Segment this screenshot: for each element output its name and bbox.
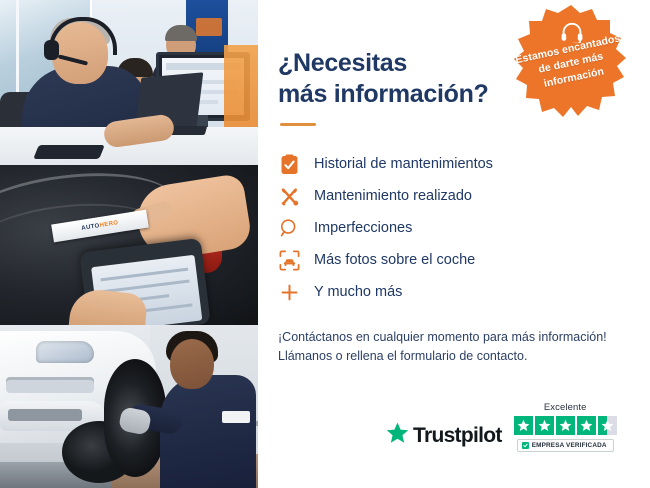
feature-label: Más fotos sobre el coche	[314, 252, 475, 268]
content-panel: ¿Necesitas más información? Historial de…	[258, 0, 650, 488]
tools-icon	[278, 185, 300, 207]
agent-headset-earcup	[44, 40, 59, 60]
desk-tablet	[33, 145, 105, 159]
feature-item-imperfections: Imperfecciones	[278, 212, 626, 244]
feature-label: Y mucho más	[314, 284, 402, 300]
car-scan-icon	[278, 249, 300, 271]
trustpilot-rating-label: Excelente	[544, 402, 587, 413]
clipboard-check-icon	[278, 153, 300, 175]
star-tile-2	[535, 416, 554, 435]
mechanic-wheel-photo	[0, 325, 258, 488]
title-underline	[280, 123, 316, 126]
feature-list: Historial de mantenimientos M	[278, 148, 626, 308]
feature-label: Imperfecciones	[314, 220, 412, 236]
contact-line-1: ¡Contáctanos en cualquier momento para m…	[278, 328, 626, 347]
check-icon	[522, 442, 529, 449]
star-tile-3	[556, 416, 575, 435]
car-grille	[6, 377, 94, 393]
support-badge: Estamos encantados de darte más informac…	[510, 2, 632, 124]
feature-item-much-more: Y mucho más	[278, 276, 626, 308]
page-title: ¿Necesitas más información?	[278, 48, 508, 109]
badge-starburst-shape	[510, 2, 632, 124]
trustpilot-stars	[514, 416, 617, 435]
car-inspection-ruler-photo: AUTOHERO	[0, 165, 258, 325]
feature-label: Historial de mantenimientos	[314, 156, 493, 172]
page-title-line-1: ¿Necesitas	[278, 49, 407, 77]
headset-icon	[560, 21, 584, 43]
trustpilot-star-icon	[386, 422, 409, 449]
car-headlight	[36, 341, 94, 363]
mechanic-logo-patch	[222, 411, 250, 423]
feature-item-maintenance-history: Historial de mantenimientos	[278, 148, 626, 180]
verified-company-badge: EMPRESA VERIFICADA	[517, 439, 614, 452]
verified-company-label: EMPRESA VERIFICADA	[532, 442, 607, 449]
magnifier-icon	[278, 217, 300, 239]
feature-item-more-photos: Más fotos sobre el coche	[278, 244, 626, 276]
wall-poster-accent	[196, 18, 222, 36]
badge-text: Estamos encantados de darte más informac…	[507, 30, 635, 98]
feature-label: Mantenimiento realizado	[314, 188, 472, 204]
contact-text: ¡Contáctanos en cualquier momento para m…	[278, 328, 626, 367]
mechanic-head	[170, 339, 214, 389]
star-tile-1	[514, 416, 533, 435]
trustpilot-widget[interactable]: Trustpilot Excelente EMPRESA VERIFICADA	[386, 402, 617, 452]
contact-line-2: Llámanos o rellena el formulario de cont…	[278, 347, 626, 366]
plus-icon	[278, 281, 300, 303]
trustpilot-rating-block: Excelente EMPRESA VERIFICADA	[514, 402, 617, 452]
call-center-agents-photo	[0, 0, 258, 165]
info-card: AUTOHERO	[0, 0, 650, 488]
star-tile-5-half	[598, 416, 617, 435]
feature-item-maintenance-done: Mantenimiento realizado	[278, 180, 626, 212]
photo-collage: AUTOHERO	[0, 0, 258, 488]
tablet-line	[100, 268, 188, 282]
ruler-brand-label: AUTOHERO	[81, 220, 119, 232]
page-title-line-2: más información?	[278, 80, 489, 108]
trustpilot-brand: Trustpilot	[386, 422, 502, 452]
star-tile-4	[577, 416, 596, 435]
trustpilot-wordmark: Trustpilot	[413, 424, 502, 448]
car-air-vent	[8, 409, 82, 421]
